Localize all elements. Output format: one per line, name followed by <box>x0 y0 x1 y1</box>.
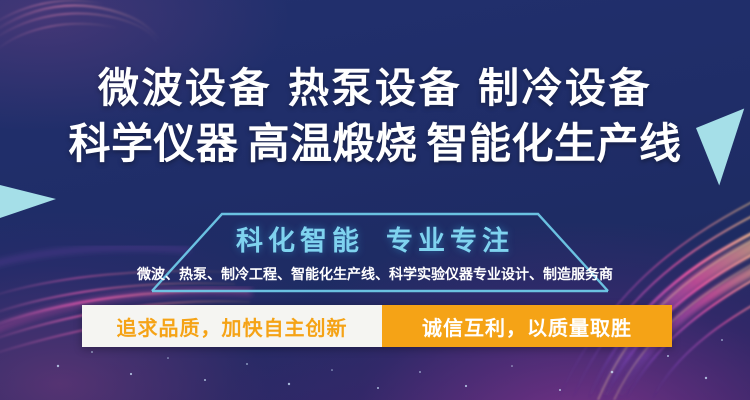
headline-line2-part1: 科学仪器 <box>68 120 238 167</box>
headline-line-2: 科学仪器高温煅烧智能化生产线 <box>0 118 750 170</box>
tag-integrity[interactable]: 诚信互利，以质量取胜 <box>382 305 672 347</box>
headline-block: 微波设备热泵设备制冷设备 科学仪器高温煅烧智能化生产线 <box>0 62 750 170</box>
tag-bar: 追求品质，加快自主创新 诚信互利，以质量取胜 <box>82 305 672 347</box>
headline-line1-part2: 热泵设备 <box>288 65 462 111</box>
headline-line1-part1: 微波设备 <box>98 65 272 111</box>
slogan-right: 专业专注 <box>386 226 514 256</box>
headline-line2-part3: 智能化生产线 <box>427 120 682 167</box>
slogan-left: 科化智能 <box>236 226 364 256</box>
headline-line2-part2: 高温煅烧 <box>247 120 417 167</box>
left-arrow-icon <box>0 185 56 218</box>
slogan-line: 科化智能专业专注 <box>0 219 750 258</box>
headline-line-1: 微波设备热泵设备制冷设备 <box>0 62 750 114</box>
tag-quality[interactable]: 追求品质，加快自主创新 <box>82 305 382 347</box>
subline-text: 微波、热泵、制冷工程、智能化生产线、科学实验仪器专业设计、制造服务商 <box>0 264 750 284</box>
headline-line1-part3: 制冷设备 <box>478 65 652 111</box>
promo-banner: 微波设备热泵设备制冷设备 科学仪器高温煅烧智能化生产线 科化智能专业专注 微波、… <box>0 0 750 400</box>
